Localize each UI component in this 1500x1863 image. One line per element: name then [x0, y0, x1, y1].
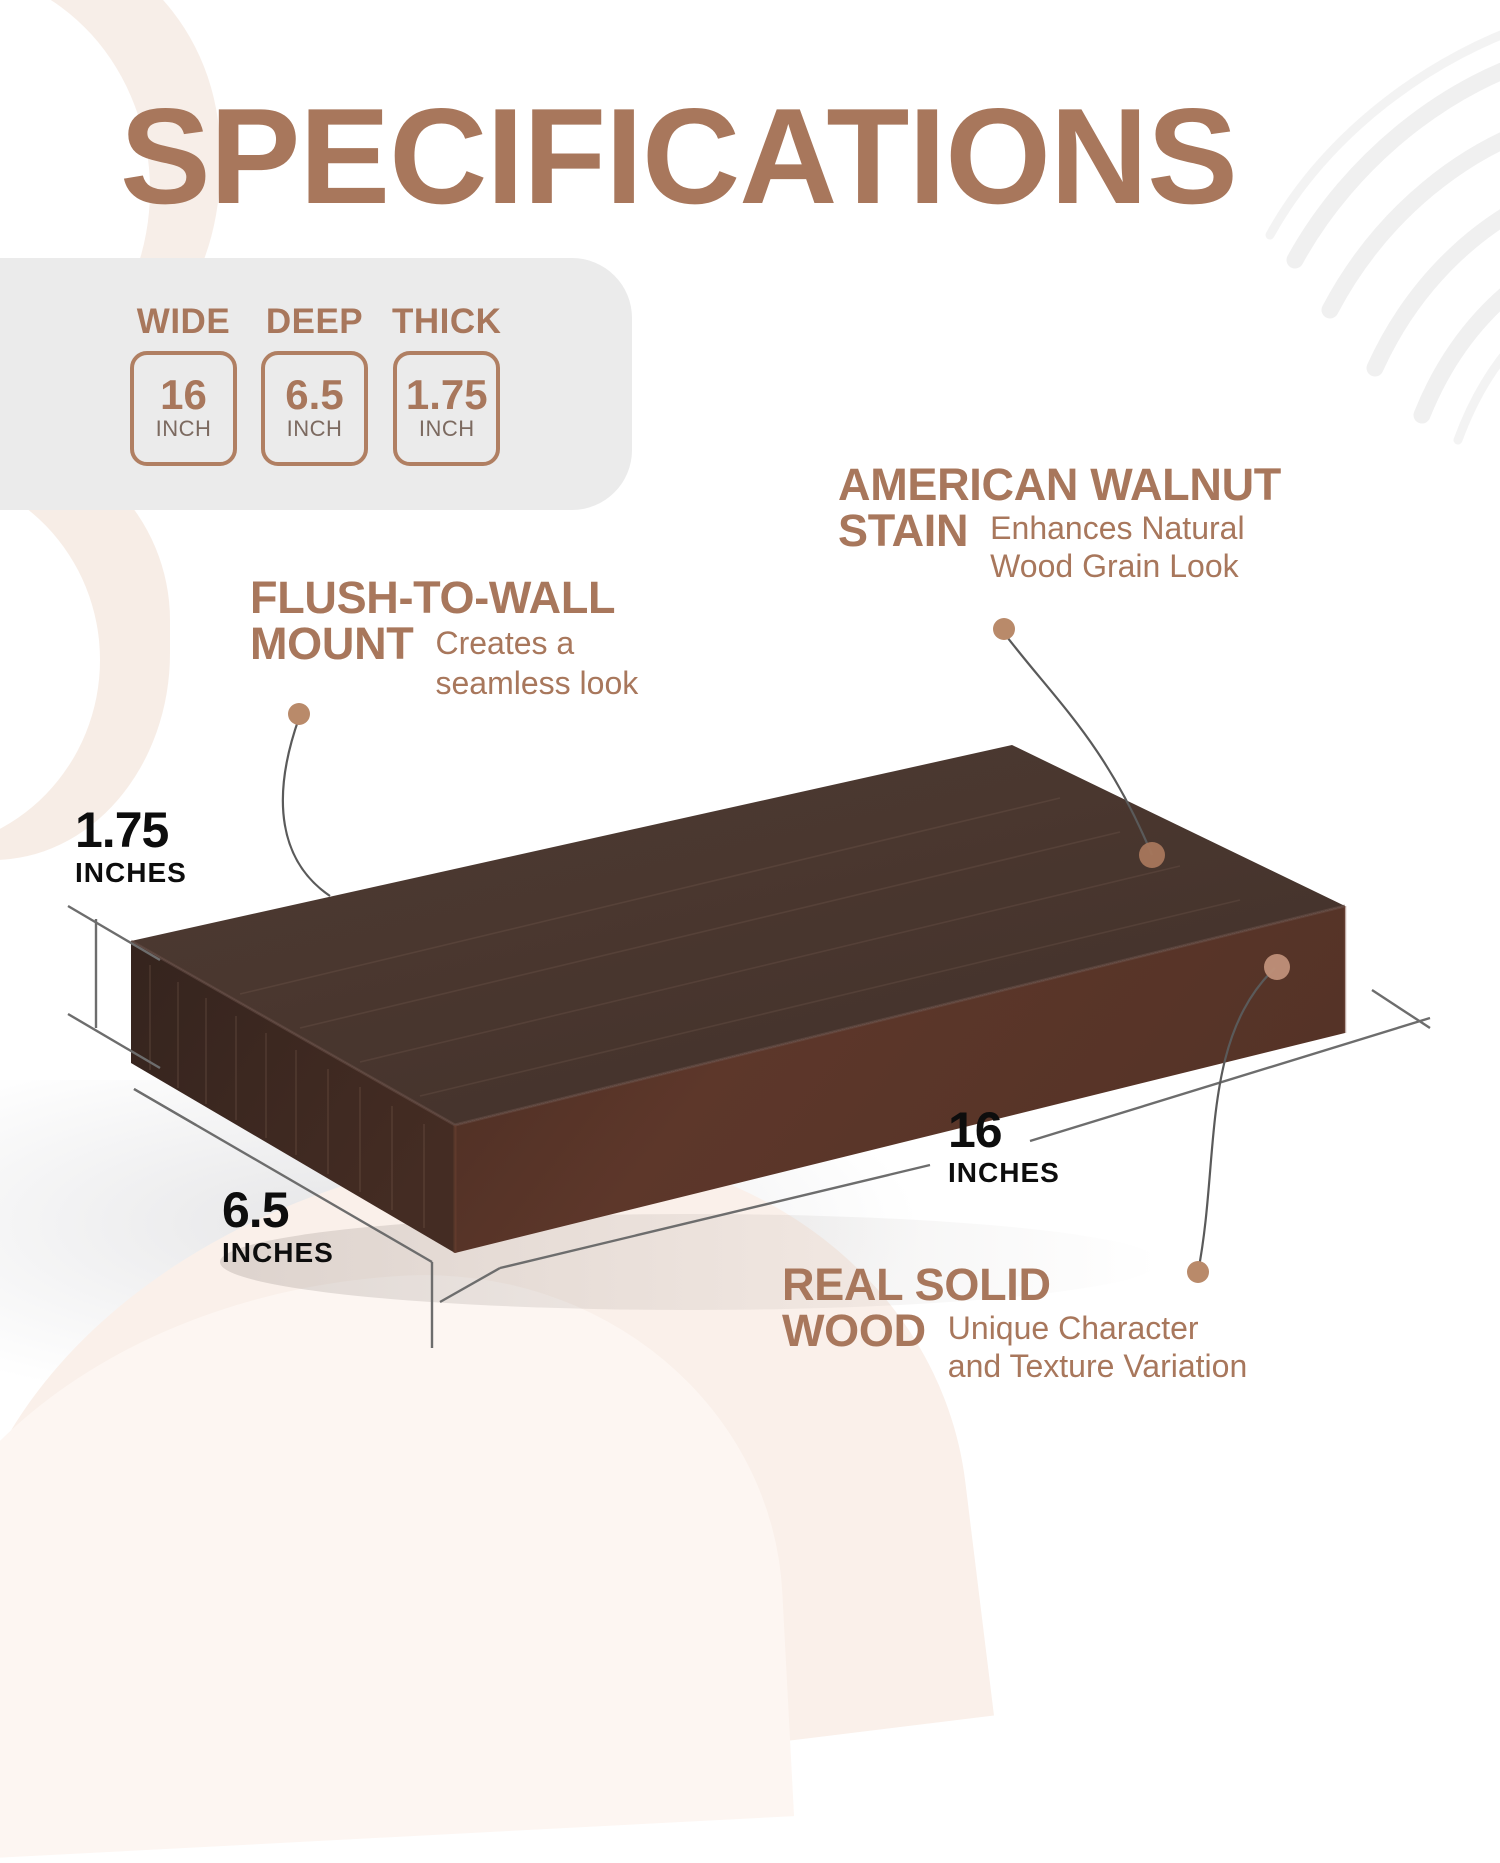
callout-american-walnut-stain: AMERICAN WALNUT STAIN Enhances Natural W…	[838, 462, 1478, 584]
callout-solid-sub-line2: and Texture Variation	[926, 1346, 1247, 1384]
spec-label-thick: THICK	[392, 302, 501, 342]
flush-dot-label	[288, 703, 310, 725]
specifications-panel: WIDE 16 INCH DEEP 6.5 INCH THICK 1.75 IN…	[0, 258, 632, 510]
dimension-label-depth: 6.5 INCHES	[222, 1185, 334, 1270]
flush-leader-line	[283, 718, 330, 896]
width-tick-end	[1372, 990, 1430, 1028]
dimension-thickness-unit: INCHES	[75, 855, 187, 890]
callout-real-solid-wood: REAL SOLID WOOD Unique Character and Tex…	[782, 1262, 1432, 1384]
callout-flush-heading-line1: FLUSH-TO-WALL	[250, 575, 790, 621]
spec-value-deep: 6.5	[285, 375, 343, 415]
callout-flush-heading-line2: MOUNT	[250, 621, 413, 667]
spec-unit-deep: INCH	[287, 416, 343, 442]
depth-tick-a	[134, 1089, 196, 1125]
dimension-width-unit: INCHES	[948, 1155, 1060, 1190]
dimension-label-thickness: 1.75 INCHES	[75, 805, 187, 890]
shelf-top-edge-highlight	[131, 906, 1345, 1125]
width-dim-line-left	[500, 1165, 930, 1268]
spec-box-deep: 6.5 INCH	[261, 351, 368, 466]
infographic-canvas: SPECIFICATIONS WIDE 16 INCH DEEP 6.5 INC…	[0, 0, 1500, 1500]
shelf-top-face	[131, 745, 1345, 1125]
callout-dots	[288, 618, 1290, 1283]
walnut-dot-label	[993, 618, 1015, 640]
callout-flush-sub-line1: Creates a	[413, 621, 638, 661]
callout-solid-heading-line2: WOOD	[782, 1308, 926, 1354]
callout-solid-heading-line1: REAL SOLID	[782, 1262, 1432, 1308]
callout-walnut-sub-line2: Wood Grain Look	[968, 546, 1244, 584]
callout-solid-sub-line1: Unique Character	[926, 1308, 1247, 1346]
spec-box-wide: 16 INCH	[130, 351, 237, 466]
callout-walnut-heading-line2: STAIN	[838, 508, 968, 554]
dimension-label-width: 16 INCHES	[948, 1105, 1060, 1190]
callout-flush-sub-line2: seamless look	[413, 661, 638, 701]
callout-walnut-sub-line1: Enhances Natural	[968, 508, 1244, 546]
dimension-width-number: 16	[948, 1105, 1060, 1155]
dimension-depth-number: 6.5	[222, 1185, 334, 1235]
spec-value-wide: 16	[160, 375, 207, 415]
shelf-front-face	[455, 906, 1345, 1253]
spec-item-deep: DEEP 6.5 INCH	[261, 302, 368, 466]
callout-flush-to-wall-mount: FLUSH-TO-WALL MOUNT Creates a seamless l…	[250, 575, 790, 701]
width-dim-line-right	[1030, 1018, 1430, 1141]
depth-arrow	[440, 1268, 500, 1302]
white-blob-mid-left	[0, 470, 100, 850]
solid-wood-leader-line	[1198, 968, 1275, 1272]
spec-unit-wide: INCH	[156, 416, 212, 442]
callout-walnut-heading-line1: AMERICAN WALNUT	[838, 462, 1478, 508]
thickness-tick-top	[68, 906, 160, 960]
wood-grain-top-texture	[240, 798, 1240, 1096]
page-title: SPECIFICATIONS	[120, 88, 1237, 224]
walnut-leader-line	[1004, 633, 1152, 855]
walnut-dot-product	[1139, 842, 1165, 868]
solid-wood-dot-product	[1264, 954, 1290, 980]
thickness-tick-bottom	[68, 1014, 160, 1068]
spec-label-deep: DEEP	[266, 302, 363, 342]
spec-item-thick: THICK 1.75 INCH	[392, 302, 501, 466]
spec-value-thick: 1.75	[406, 375, 488, 415]
spec-unit-thick: INCH	[419, 416, 475, 442]
spec-list: WIDE 16 INCH DEEP 6.5 INCH THICK 1.75 IN…	[130, 302, 501, 466]
dimension-depth-unit: INCHES	[222, 1235, 334, 1270]
beige-wave-bottom-inner	[0, 1257, 794, 1863]
spec-label-wide: WIDE	[137, 302, 230, 342]
dimension-thickness-number: 1.75	[75, 805, 187, 855]
spec-item-wide: WIDE 16 INCH	[130, 302, 237, 466]
spec-box-thick: 1.75 INCH	[393, 351, 500, 466]
beige-wave-bottom	[0, 1100, 994, 1840]
